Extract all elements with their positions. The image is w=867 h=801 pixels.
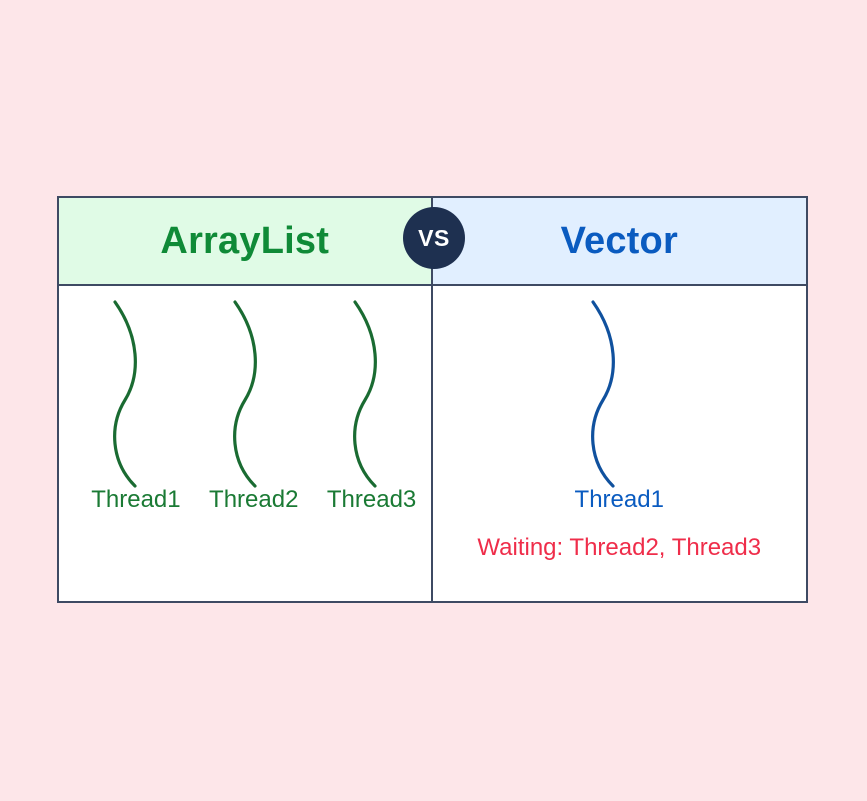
arraylist-thread-labels: Thread1 Thread2 Thread3 (59, 488, 431, 512)
vector-active-thread-label: Thread1 (433, 488, 807, 512)
vs-badge-label: VS (418, 227, 450, 250)
header-cell-arraylist: ArrayList (59, 198, 433, 284)
vector-waiting-label: Waiting: Thread2, Thread3 (433, 536, 807, 560)
thread-squiggle-icon (215, 296, 279, 492)
vector-title: Vector (561, 222, 678, 260)
table-body-row: Thread1 Thread2 Thread3 Thread1 Waiting:… (59, 286, 806, 601)
diagram-canvas: ArrayList Vector (0, 0, 867, 801)
thread-label-2: Thread2 (195, 488, 313, 512)
thread-squiggle-icon (95, 296, 159, 492)
arraylist-panel: Thread1 Thread2 Thread3 (59, 286, 433, 601)
thread-label-1: Thread1 (77, 488, 195, 512)
thread-squiggle-icon (335, 296, 399, 492)
thread-squiggle-icon (573, 296, 637, 492)
header-cell-vector: Vector (433, 198, 807, 284)
vector-panel: Thread1 Waiting: Thread2, Thread3 (433, 286, 807, 601)
arraylist-title: ArrayList (160, 222, 329, 260)
vs-badge: VS (403, 207, 465, 269)
thread-label-3: Thread3 (313, 488, 431, 512)
